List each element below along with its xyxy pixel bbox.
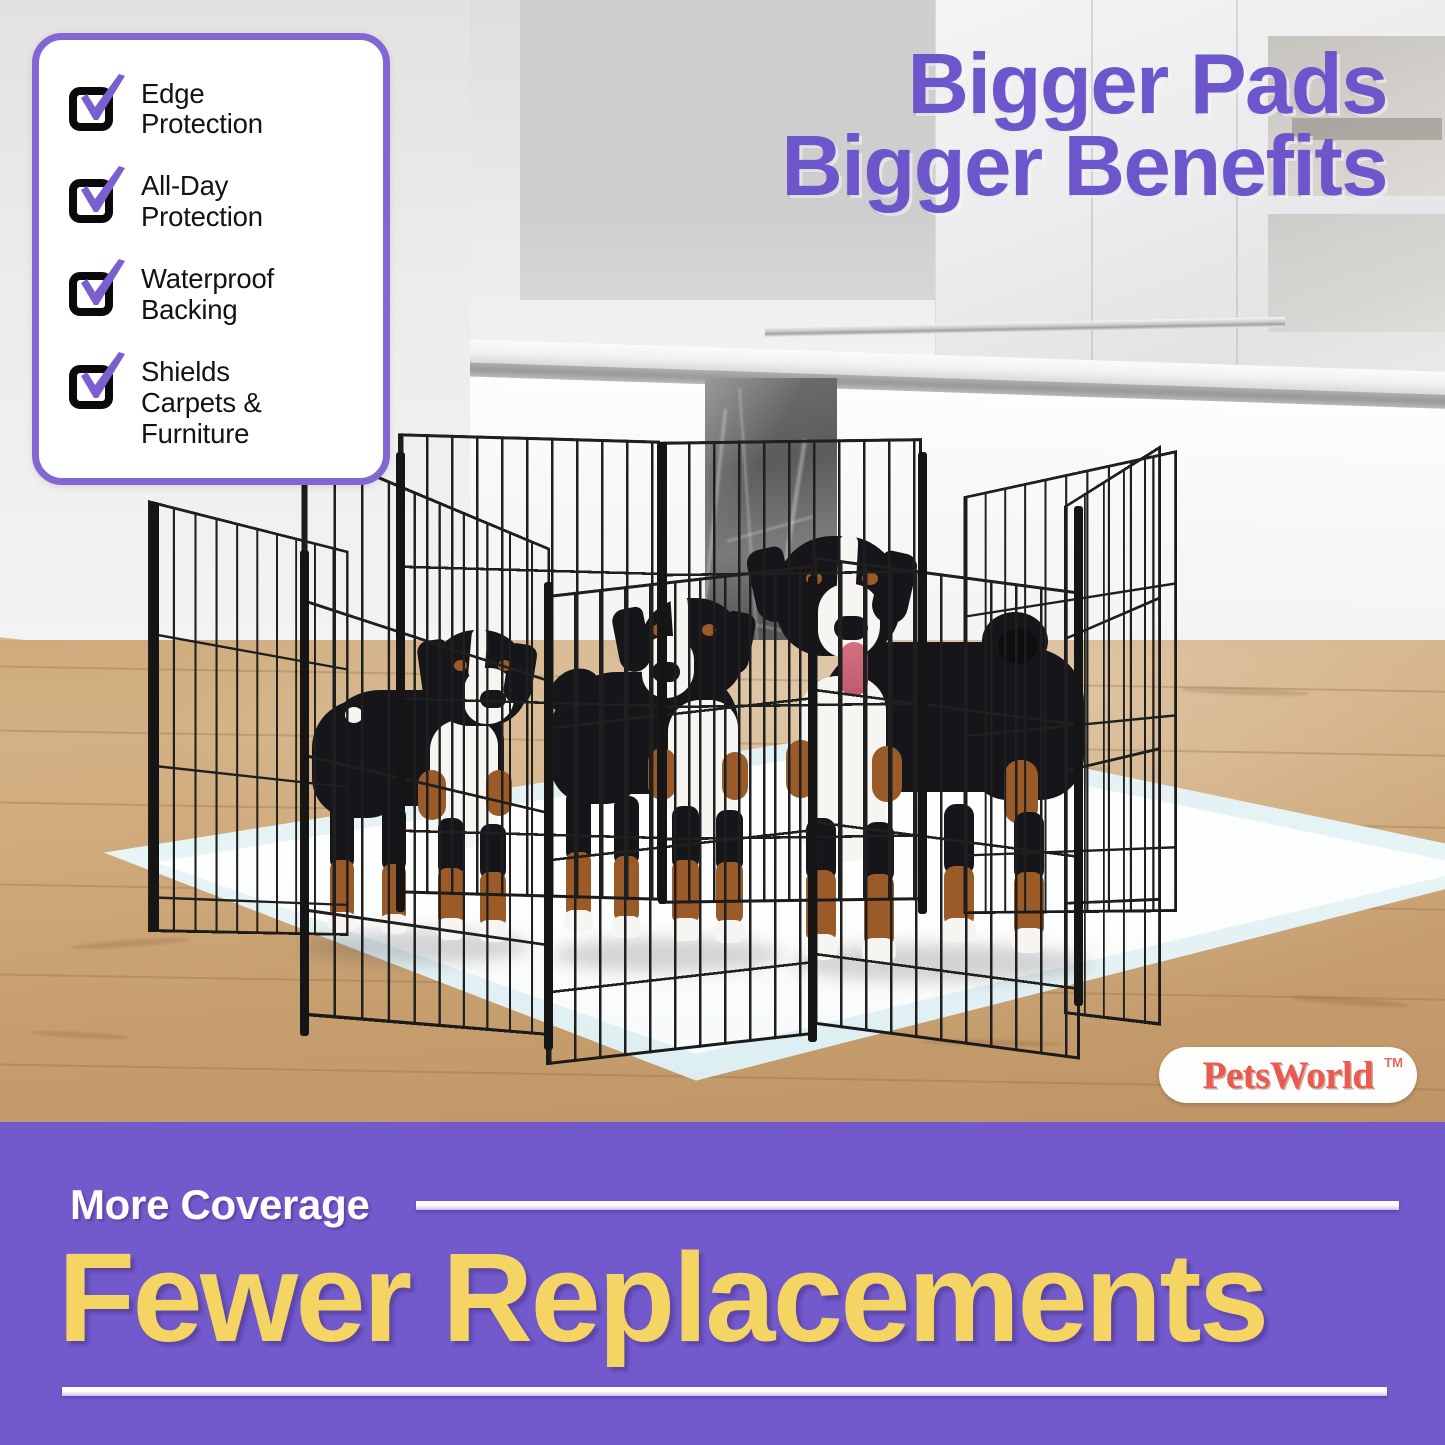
banner-eyebrow-row: More Coverage — [70, 1181, 1399, 1229]
feature-line-1: Waterproof — [141, 263, 274, 294]
pen-panel-left — [301, 444, 550, 1036]
product-infographic: PetsWorld TM Bigger Pads Bigger Benefits… — [0, 0, 1445, 1445]
feature-item-all-day-protection: All-Day Protection — [53, 169, 367, 233]
feature-line-1: Shields — [141, 356, 230, 387]
checkbox-check-icon — [67, 359, 123, 411]
feature-line-3: Furniture — [141, 418, 249, 449]
pen-hinge — [396, 452, 405, 912]
feature-list-card: Edge Protection All-Day Protection — [32, 33, 390, 485]
checkbox-check-icon — [67, 81, 123, 133]
feature-item-waterproof-backing: Waterproof Backing — [53, 262, 367, 326]
pen-hinge — [544, 582, 553, 1050]
pen-panel-front-right — [812, 556, 1080, 1059]
feature-item-shields-carpets-furniture: Shields Carpets & Furniture — [53, 355, 367, 449]
pen-hinge — [918, 452, 927, 914]
banner-headline: Fewer Replacements — [58, 1235, 1267, 1361]
headline-line-2: Bigger Benefits — [781, 126, 1387, 208]
pen-hinge — [808, 576, 817, 1042]
banner-eyebrow: More Coverage — [70, 1181, 370, 1229]
feature-line-1: Edge — [141, 78, 204, 109]
feature-line-1: All-Day — [141, 170, 228, 201]
feature-line-2: Backing — [141, 294, 237, 325]
feature-label: Shields Carpets & Furniture — [141, 355, 261, 449]
feature-item-edge-protection: Edge Protection — [53, 77, 367, 141]
pen-hinge — [150, 502, 159, 932]
pen-hinge — [300, 550, 309, 1036]
banner-rule-top — [416, 1201, 1399, 1210]
feature-line-2: Carpets & — [141, 387, 261, 418]
checkbox-check-icon — [67, 173, 123, 225]
trademark-symbol: TM — [1384, 1055, 1403, 1070]
page-title: Bigger Pads Bigger Benefits — [781, 44, 1387, 209]
feature-label: Waterproof Backing — [141, 262, 274, 326]
pen-panel-front-left — [546, 565, 814, 1066]
feature-line-2: Protection — [141, 201, 263, 232]
feature-label: Edge Protection — [141, 77, 263, 141]
bottom-banner: More Coverage Fewer Replacements — [0, 1122, 1445, 1445]
brand-logo: PetsWorld TM — [1159, 1047, 1417, 1103]
feature-line-2: Protection — [141, 108, 263, 139]
feature-label: All-Day Protection — [141, 169, 263, 233]
brand-name: PetsWorld — [1203, 1053, 1374, 1098]
checkbox-check-icon — [67, 266, 123, 318]
banner-rule-bottom — [62, 1387, 1387, 1396]
pen-hinge — [658, 442, 667, 904]
headline-line-1: Bigger Pads — [781, 44, 1387, 126]
pen-hinge — [1074, 506, 1083, 1006]
